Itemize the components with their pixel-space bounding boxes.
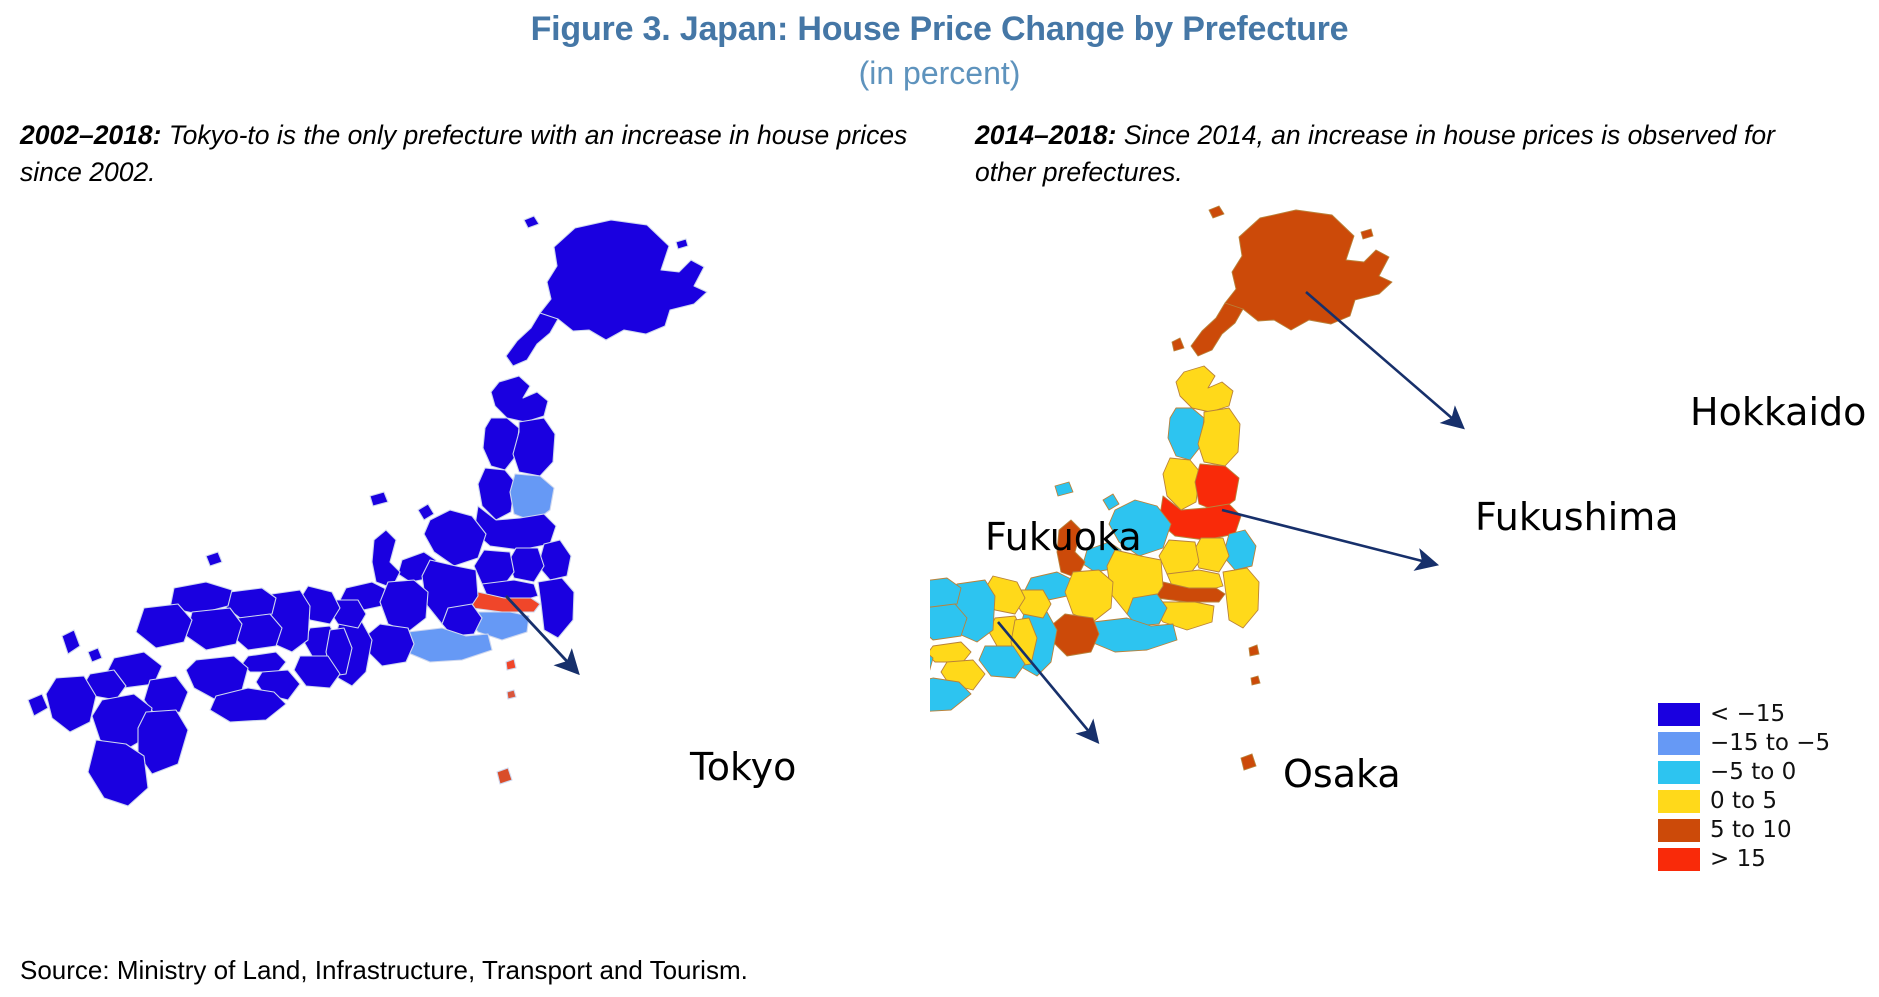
islet-sado-r: [1103, 494, 1119, 510]
legend-swatch-icon: [1658, 848, 1700, 871]
page-title: Figure 3. Japan: House Price Change by P…: [0, 0, 1879, 52]
annotation-arrow-hokkaido: [1306, 292, 1461, 426]
map-label-tokyo: Tokyo: [690, 745, 796, 789]
legend-label: 5 to 10: [1710, 819, 1792, 842]
prefecture-shizuoka: [406, 628, 492, 662]
legend-item: −15 to −5: [1658, 729, 1830, 758]
legend-label: > 15: [1710, 848, 1766, 871]
prefecture-miyagi: [1195, 464, 1239, 512]
legend-item: < −15: [1658, 700, 1830, 729]
islet-izu-2: [507, 690, 516, 699]
islet-sado: [418, 504, 434, 520]
islet-tsushima: [62, 630, 80, 654]
legend-label: 0 to 5: [1710, 790, 1777, 813]
prefecture-kagawa: [242, 652, 286, 672]
islet-sea-of-japan-r: [1055, 482, 1073, 496]
legend-item: −5 to 0: [1658, 758, 1830, 787]
legend-swatch-icon: [1658, 732, 1700, 755]
prefecture-ibaraki: [538, 540, 571, 580]
islet-goto: [28, 694, 48, 716]
prefecture-aichi: [1053, 614, 1099, 656]
panel-period-right: 2014–2018:: [975, 120, 1116, 150]
islet-r-a: [1361, 229, 1373, 239]
prefecture-kagawa: [930, 642, 971, 662]
prefecture-hokkaido-cape: [506, 313, 558, 366]
prefecture-gifu: [380, 580, 428, 632]
figure-subtitle: (in percent): [0, 52, 1879, 94]
map-label-fukuoka: Fukuoka: [985, 515, 1142, 559]
prefecture-hokkaido-cape: [1191, 303, 1243, 356]
prefecture-miyagi: [510, 474, 554, 522]
choropleth-map-2002-2018: [10, 200, 940, 960]
map-label-fukushima: Fukushima: [1475, 495, 1679, 539]
legend-swatch-icon: [1658, 790, 1700, 813]
figure-header: Figure 3. Japan: House Price Change by P…: [0, 0, 1879, 94]
prefecture-iwate: [1198, 408, 1240, 466]
islet-oki: [206, 552, 222, 566]
prefecture-hiroshima: [186, 608, 242, 650]
source-note: Source: Ministry of Land, Infrastructure…: [20, 955, 748, 986]
islet-izu-r1: [1249, 645, 1259, 656]
legend-item: 5 to 10: [1658, 816, 1830, 845]
prefecture-ishikawa: [372, 530, 400, 588]
map-label-hokkaido: Hokkaido: [1690, 390, 1866, 434]
map-svg-left: [10, 200, 940, 960]
islet-sea-of-japan: [370, 492, 388, 506]
prefecture-tottori: [930, 578, 961, 608]
islet-a: [676, 239, 688, 249]
prefecture-aomori: [1176, 366, 1233, 412]
islet-okinawa-r: [1241, 754, 1256, 770]
prefecture-akita: [1168, 408, 1204, 460]
prefecture-hokkaido: [540, 220, 707, 340]
prefecture-aomori: [491, 376, 548, 422]
legend-item: > 15: [1658, 845, 1830, 874]
prefecture-hokkaido: [1225, 210, 1392, 330]
panel-caption-left: 2002–2018: Tokyo-to is the only prefectu…: [20, 117, 970, 191]
prefecture-chiba: [538, 578, 574, 638]
legend-swatch-icon: [1658, 819, 1700, 842]
prefecture-shizuoka: [1091, 618, 1177, 652]
legend-label: −5 to 0: [1710, 761, 1796, 784]
prefecture-yamaguchi: [136, 604, 192, 648]
map-svg-right: [930, 200, 1720, 960]
legend-swatch-icon: [1658, 703, 1700, 726]
panel-caption-right: 2014–2018: Since 2014, an increase in ho…: [975, 117, 1815, 191]
prefecture-chiba: [1223, 568, 1259, 628]
islet-izu-1: [506, 659, 516, 670]
legend-label: < −15: [1710, 703, 1785, 726]
prefecture-tochigi: [1193, 538, 1229, 572]
prefecture-aichi: [368, 624, 414, 666]
islet-b: [524, 216, 539, 228]
legend-swatch-icon: [1658, 761, 1700, 784]
prefecture-tochigi: [508, 548, 544, 582]
islet-r-b: [1209, 206, 1224, 218]
map-legend: < −15 −15 to −5 −5 to 0 0 to 5 5 to 10 >…: [1658, 700, 1830, 874]
prefecture-akita: [483, 418, 519, 470]
map-label-osaka: Osaka: [1283, 752, 1401, 796]
choropleth-map-2014-2018: [930, 200, 1720, 960]
islet-r-c: [1172, 338, 1184, 351]
islet-okinawa: [497, 768, 512, 784]
prefecture-nagasaki: [46, 676, 96, 732]
prefecture-ibaraki: [1223, 530, 1256, 570]
islet-iki: [88, 648, 102, 662]
legend-item: 0 to 5: [1658, 787, 1830, 816]
islet-izu-r2: [1251, 676, 1260, 685]
prefecture-gifu: [1065, 570, 1113, 622]
legend-label: −15 to −5: [1710, 732, 1830, 755]
panel-period-left: 2002–2018:: [20, 120, 161, 150]
prefecture-iwate: [513, 418, 555, 476]
